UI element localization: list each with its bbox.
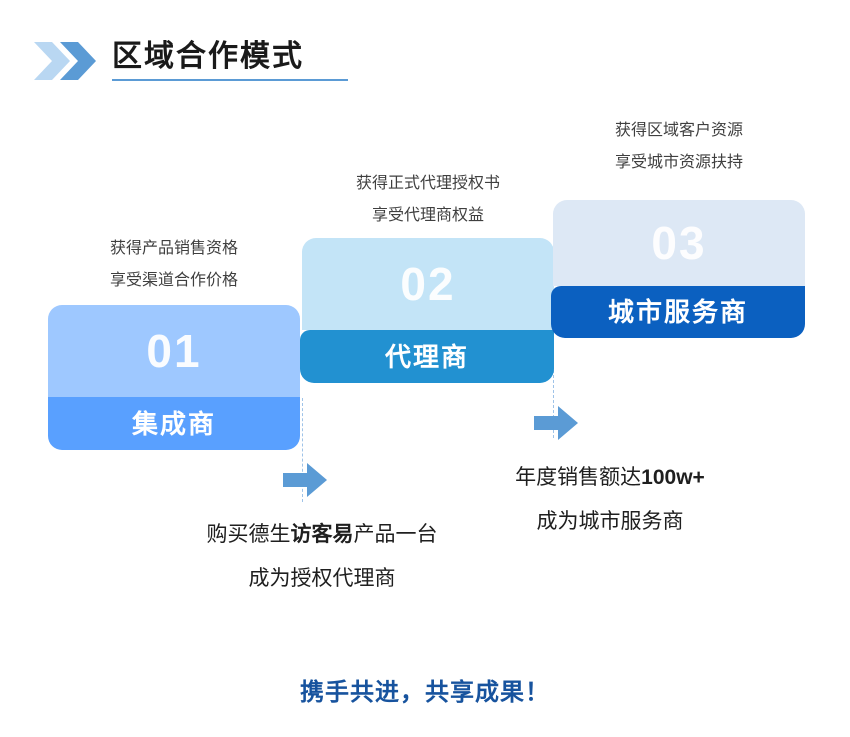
note-1-strong: 访客易 xyxy=(291,523,354,546)
footer-slogan: 携手共进，共享成果！ xyxy=(0,672,850,707)
step-label-03: 城市服务商 xyxy=(608,299,748,325)
step-caption-01-line2: 享受渠道合作价格 xyxy=(48,265,300,297)
note-2-line2: 成为城市服务商 xyxy=(420,500,800,544)
step-caption-03-line2: 享受城市资源扶持 xyxy=(553,147,805,179)
page-title: 区域合作模式 xyxy=(112,38,348,76)
page-header: 区域合作模式 xyxy=(0,0,850,110)
note-2: 年度销售额达100w+ 成为城市服务商 xyxy=(420,456,800,544)
step-card-02[interactable]: 02 代理商 xyxy=(302,238,554,383)
step-number-03: 03 xyxy=(651,220,706,266)
step-card-03[interactable]: 03 城市服务商 xyxy=(553,200,805,338)
step-card-03-label: 城市服务商 xyxy=(551,286,805,338)
step-card-01-label: 集成商 xyxy=(48,397,300,450)
arrow-right-icon-2 xyxy=(534,406,578,440)
step-caption-02-line2: 享受代理商权益 xyxy=(302,200,554,232)
step-number-01: 01 xyxy=(146,328,201,374)
chevron-right-icon-dark xyxy=(60,42,96,80)
step-caption-03-line1: 获得区域客户资源 xyxy=(553,115,805,147)
note-2-prefix: 年度销售额达 xyxy=(515,466,641,489)
step-card-03-body: 03 xyxy=(553,200,805,286)
step-caption-01-line1: 获得产品销售资格 xyxy=(48,233,300,265)
step-caption-03: 获得区域客户资源 享受城市资源扶持 xyxy=(553,115,805,179)
chevron-double-right-icon xyxy=(34,42,106,80)
step-number-02: 02 xyxy=(400,261,455,307)
note-1-line2: 成为授权代理商 xyxy=(132,557,512,601)
title-block: 区域合作模式 xyxy=(112,38,348,81)
step-card-01-body: 01 xyxy=(48,305,300,397)
step-label-02: 代理商 xyxy=(385,344,469,370)
step-card-02-label: 代理商 xyxy=(300,330,554,383)
note-1-prefix: 购买德生 xyxy=(207,523,291,546)
note-2-line1: 年度销售额达100w+ xyxy=(420,456,800,500)
step-caption-02-line1: 获得正式代理授权书 xyxy=(302,168,554,200)
arrow-right-icon-1 xyxy=(283,463,327,497)
step-card-02-body: 02 xyxy=(302,238,554,330)
step-card-01[interactable]: 01 集成商 xyxy=(48,305,300,450)
step-caption-01: 获得产品销售资格 享受渠道合作价格 xyxy=(48,233,300,297)
step-label-01: 集成商 xyxy=(132,411,216,437)
step-caption-02: 获得正式代理授权书 享受代理商权益 xyxy=(302,168,554,232)
note-2-strong: 100w+ xyxy=(641,466,705,489)
title-underline xyxy=(112,79,348,81)
